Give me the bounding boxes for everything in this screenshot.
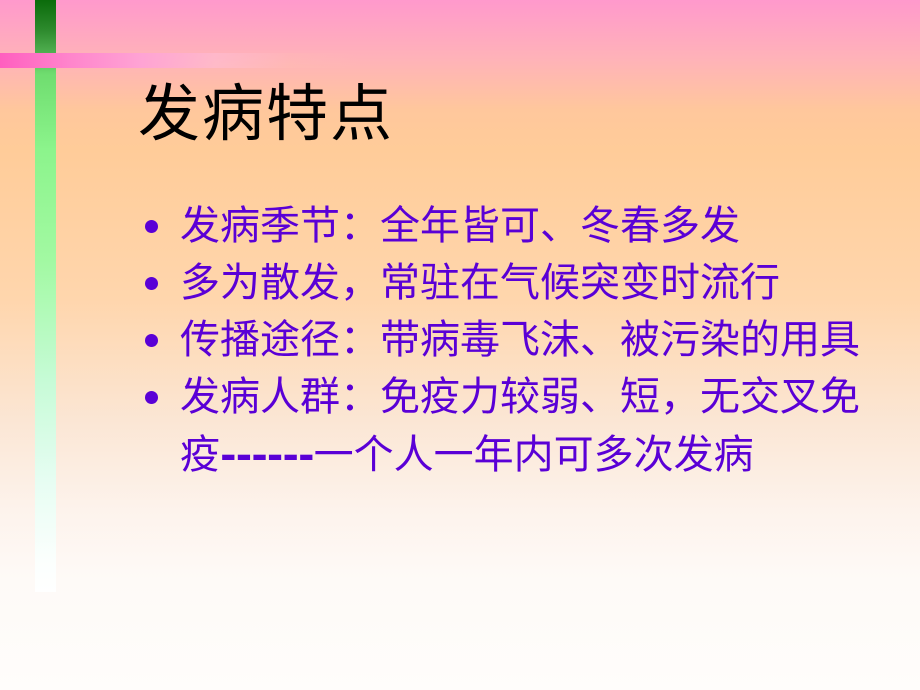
vertical-accent-bar	[35, 0, 56, 592]
list-item-label: 传播途径：带病毒飞沫、被污染的用具	[180, 312, 906, 369]
list-item-label: 多为散发，常驻在气候突变时流行	[180, 255, 906, 312]
list-item-label: 发病人群：免疫力较弱、短，无交叉免疫------一个人一年内可多次发病	[180, 369, 906, 484]
list-item: 发病人群：免疫力较弱、短，无交叉免疫------一个人一年内可多次发病	[136, 369, 906, 484]
list-item: 多为散发，常驻在气候突变时流行	[136, 255, 906, 312]
bullet-dot-icon	[145, 334, 158, 347]
slide-title: 发病特点	[138, 78, 394, 149]
bullet-dot-icon	[145, 391, 158, 404]
bullet-list: 发病季节：全年皆可、冬春多发 多为散发，常驻在气候突变时流行 传播途径：带病毒飞…	[136, 198, 906, 484]
bullet-dot-icon	[145, 220, 158, 233]
horizontal-accent-bar	[0, 53, 360, 68]
list-item-label: 发病季节：全年皆可、冬春多发	[180, 198, 906, 255]
slide-canvas: 发病特点 发病季节：全年皆可、冬春多发 多为散发，常驻在气候突变时流行 传播途径…	[0, 0, 920, 690]
list-item-label-part-two: 一个人一年内可多次发病	[314, 432, 754, 478]
list-item: 发病季节：全年皆可、冬春多发	[136, 198, 906, 255]
list-item-dash-separator: ------	[220, 431, 314, 478]
bullet-dot-icon	[145, 277, 158, 290]
list-item: 传播途径：带病毒飞沫、被污染的用具	[136, 312, 906, 369]
